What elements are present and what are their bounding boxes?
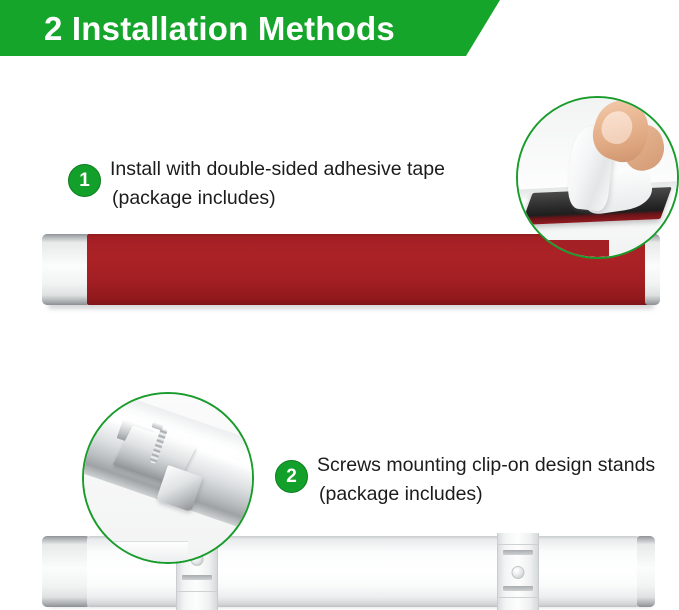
installation-methods-graphic: 2 Installation Methods 1 Install with do… — [0, 0, 679, 609]
page-title: 2 Installation Methods — [44, 12, 395, 45]
adhesive-tape-detail-inset — [516, 96, 679, 259]
white-bar-endcap-right — [637, 536, 655, 607]
step-2-text: Screws mounting clip-on design stands (p… — [317, 451, 655, 509]
clip-seam-bottom — [498, 597, 538, 598]
step-2-line-2: (package includes) — [317, 480, 655, 509]
clip-screw-hole — [512, 566, 525, 579]
adhesive-tape-scene — [518, 98, 677, 257]
screw-clip-detail-inset — [82, 392, 254, 564]
red-bar-endcap-left — [42, 234, 89, 305]
clip-slot-upper — [503, 550, 533, 555]
step-1-line-2: (package includes) — [110, 184, 445, 213]
clip-slot-lower — [503, 586, 533, 591]
screw-clip-scene — [84, 394, 252, 562]
white-bar-endcap-left — [42, 536, 89, 607]
header-banner: 2 Installation Methods — [0, 0, 500, 56]
step-2-line-1: Screws mounting clip-on design stands — [317, 451, 655, 480]
step-2-badge: 2 — [275, 460, 308, 493]
clip-seam-top — [498, 544, 538, 545]
step-1-line-1: Install with double-sided adhesive tape — [110, 155, 445, 184]
clip-seam-bottom — [177, 591, 217, 592]
clip-inset-lower-bar — [82, 541, 188, 564]
tape-inset-red-overlap — [516, 240, 609, 259]
step-1-badge: 1 — [68, 164, 101, 197]
step-1-text: Install with double-sided adhesive tape … — [110, 155, 445, 213]
mounting-clip — [497, 533, 539, 610]
clip-slot-upper — [182, 575, 212, 580]
